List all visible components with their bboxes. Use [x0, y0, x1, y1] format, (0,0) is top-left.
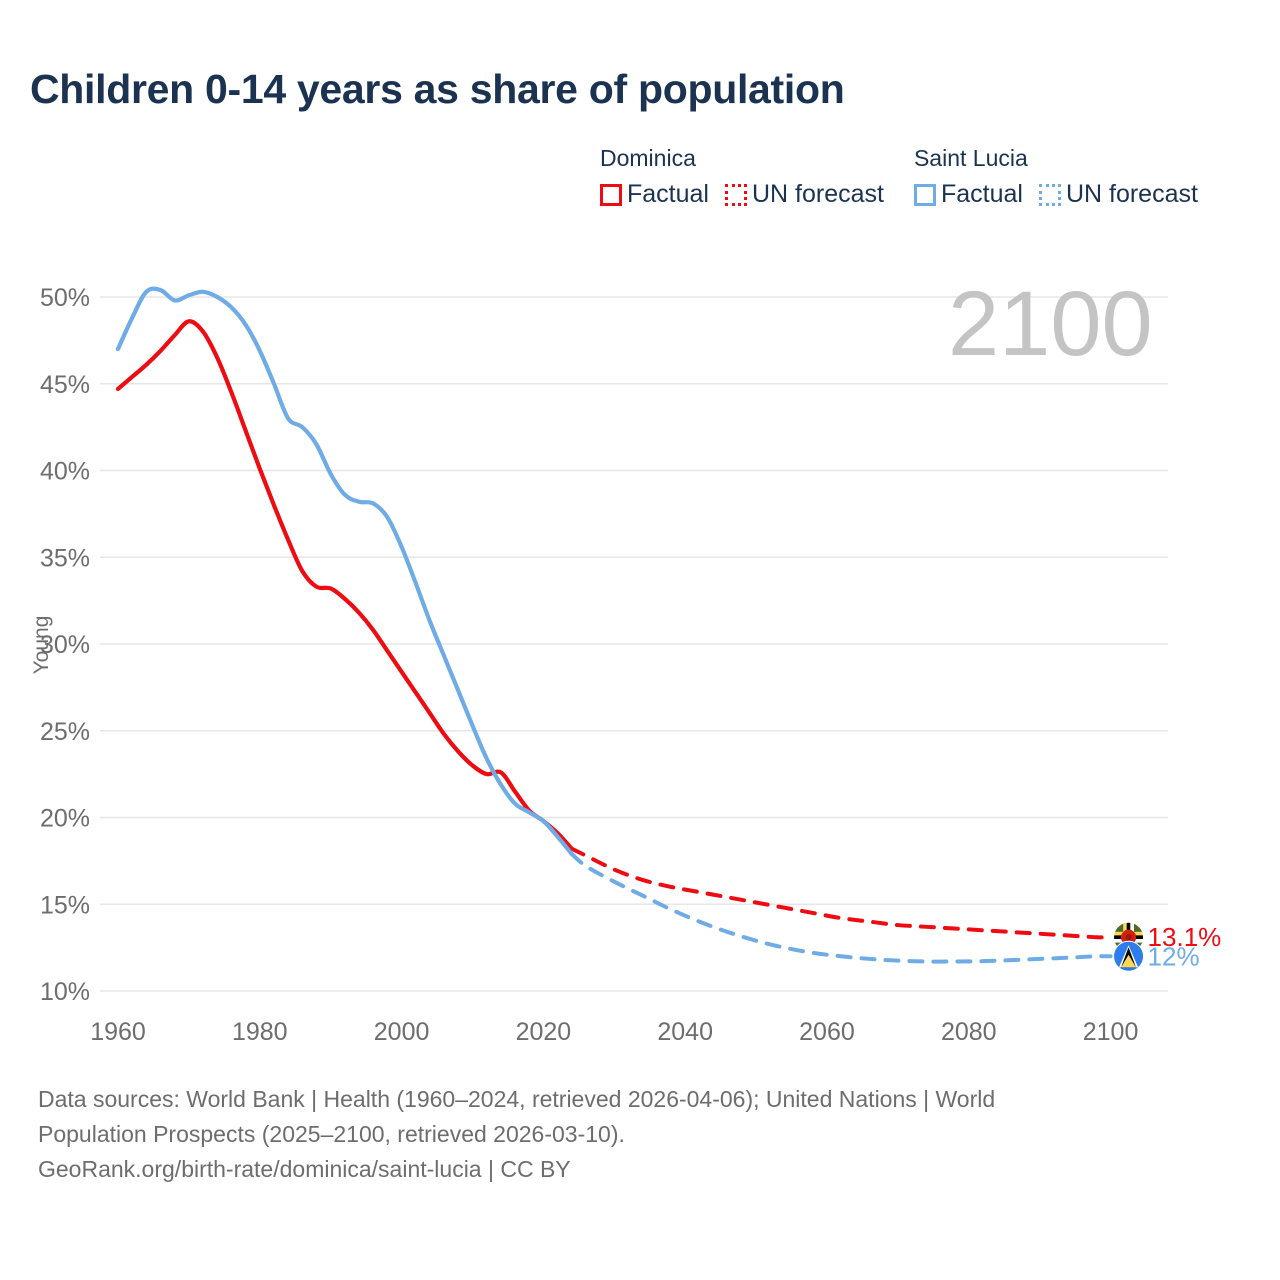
y-tick-45: 45% — [40, 371, 90, 399]
y-tick-10: 10% — [40, 978, 90, 1006]
footer-line-3: GeoRank.org/birth-rate/dominica/saint-lu… — [38, 1152, 1238, 1187]
legend-swatch-dotted-icon — [1039, 184, 1061, 206]
chart-legend: Dominica Factual UN forecast Saint Lucia… — [600, 144, 1198, 209]
x-axis-tick-labels: 19601980200020202040206020802100 — [90, 1018, 1138, 1046]
legend-item-dominica-factual[interactable]: Factual — [600, 180, 709, 209]
y-tick-40: 40% — [40, 458, 90, 486]
line-chart-svg: 10%15%20%25%30%35%40%45%50% 196019802000… — [0, 250, 1280, 1050]
x-tick-2000: 2000 — [374, 1018, 430, 1046]
legend-group-saint-lucia: Saint Lucia Factual UN forecast — [914, 144, 1198, 209]
y-tick-20: 20% — [40, 805, 90, 833]
saint-lucia-flag-marker[interactable] — [1114, 941, 1144, 971]
x-tick-1980: 1980 — [232, 1018, 288, 1046]
x-tick-2080: 2080 — [941, 1018, 997, 1046]
x-tick-2020: 2020 — [516, 1018, 572, 1046]
saint-lucia-end-value-label: 12% — [1148, 941, 1200, 971]
year-watermark: 2100 — [948, 273, 1153, 375]
legend-label-saint-lucia-forecast: UN forecast — [1066, 180, 1198, 209]
footer-line-2: Population Prospects (2025–2100, retriev… — [38, 1117, 1238, 1152]
legend-label-dominica-factual: Factual — [627, 180, 709, 209]
data-series-paths — [118, 289, 1111, 962]
legend-group-dominica: Dominica Factual UN forecast — [600, 144, 884, 209]
legend-country-dominica: Dominica — [600, 144, 696, 172]
legend-item-dominica-forecast[interactable]: UN forecast — [725, 180, 884, 209]
grid-lines — [100, 297, 1168, 991]
y-tick-50: 50% — [40, 284, 90, 312]
chart-page: Children 0-14 years as share of populati… — [0, 0, 1280, 1280]
legend-item-saint-lucia-factual[interactable]: Factual — [914, 180, 1023, 209]
x-tick-2060: 2060 — [799, 1018, 855, 1046]
legend-entries-saint-lucia: Factual UN forecast — [914, 180, 1198, 209]
legend-entries-dominica: Factual UN forecast — [600, 180, 884, 209]
x-tick-2040: 2040 — [657, 1018, 713, 1046]
series-dominica-factual — [118, 321, 572, 848]
footer-line-1: Data sources: World Bank | Health (1960–… — [38, 1082, 1238, 1117]
legend-swatch-solid-icon — [914, 184, 936, 206]
y-tick-35: 35% — [40, 544, 90, 572]
legend-label-dominica-forecast: UN forecast — [752, 180, 884, 209]
x-tick-1960: 1960 — [90, 1018, 146, 1046]
x-tick-2100: 2100 — [1083, 1018, 1139, 1046]
plot-area: 10%15%20%25%30%35%40%45%50% 196019802000… — [0, 250, 1280, 1050]
footer-sources: Data sources: World Bank | Health (1960–… — [38, 1082, 1238, 1187]
legend-item-saint-lucia-forecast[interactable]: UN forecast — [1039, 180, 1198, 209]
page-title: Children 0-14 years as share of populati… — [30, 66, 844, 113]
y-tick-15: 15% — [40, 891, 90, 919]
legend-swatch-solid-icon — [600, 184, 622, 206]
legend-country-saint-lucia: Saint Lucia — [914, 144, 1028, 172]
legend-swatch-dotted-icon — [725, 184, 747, 206]
y-axis-label: Young — [30, 616, 53, 675]
legend-label-saint-lucia-factual: Factual — [941, 180, 1023, 209]
series-saint-lucia-factual — [118, 289, 572, 854]
y-tick-25: 25% — [40, 718, 90, 746]
series-saint-lucia-forecast — [572, 854, 1111, 962]
series-dominica-forecast — [572, 849, 1111, 938]
